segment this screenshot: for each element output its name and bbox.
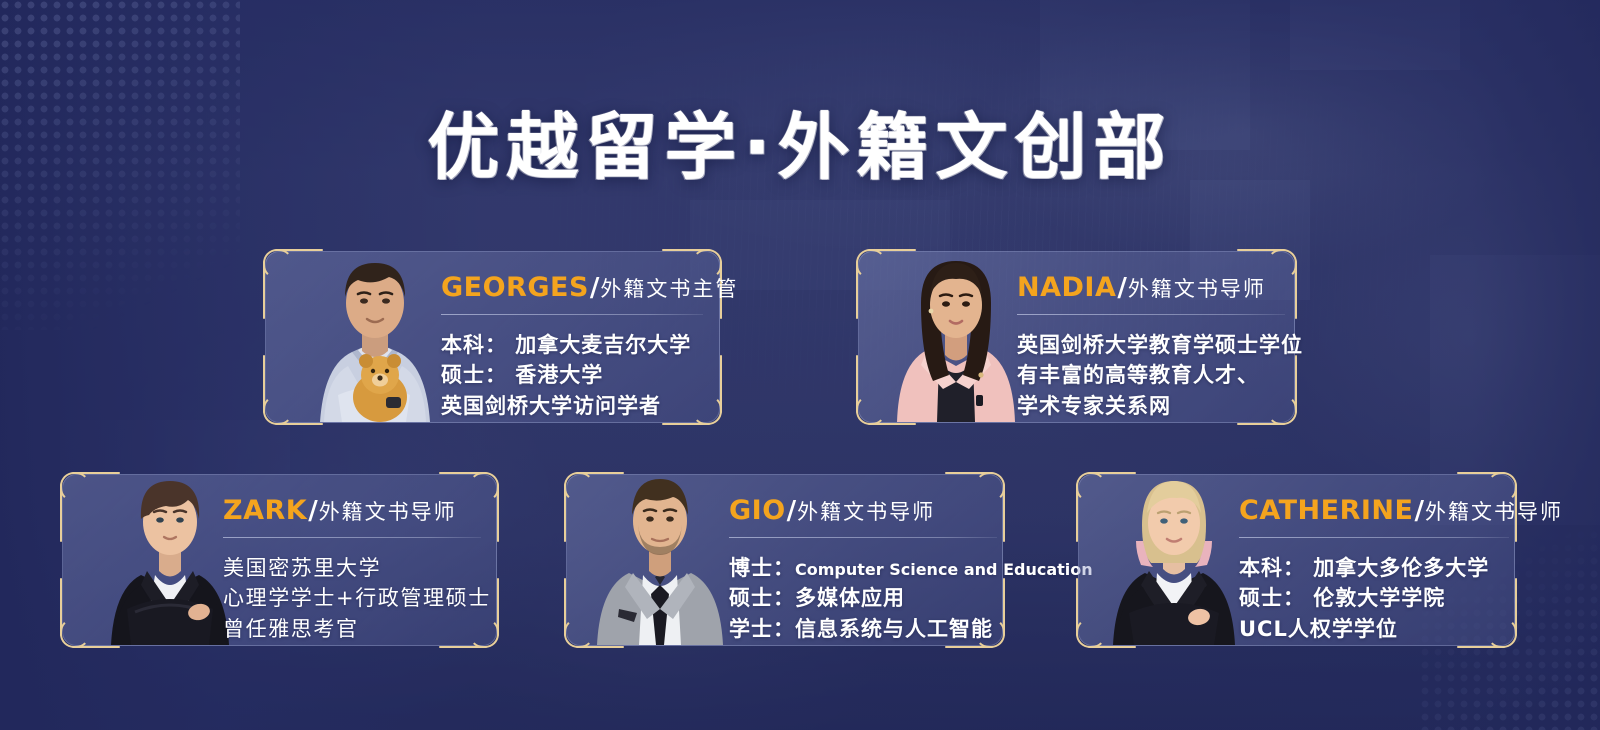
name-separator: / — [308, 496, 318, 526]
info-divider — [1239, 537, 1509, 538]
info-divider — [1017, 314, 1285, 315]
staff-detail-line: 学士：信息系统与人工智能 — [729, 614, 997, 644]
staff-name: GEORGES — [441, 272, 589, 303]
staff-name: CATHERINE — [1239, 495, 1413, 526]
staff-detail-line: 硕士： 伦敦大学学院 — [1239, 583, 1509, 613]
staff-name: NADIA — [1017, 272, 1116, 303]
staff-detail-line: 硕士： 香港大学 — [441, 360, 703, 390]
promo-banner: 优越留学·外籍文创部 — [0, 0, 1600, 730]
staff-card-zark[interactable]: ZARK/外籍文书导师 美国密苏里大学 心理学学士+行政管理硕士 曾任雅思考官 — [62, 474, 497, 646]
info-divider — [441, 314, 703, 315]
staff-card-georges[interactable]: GEORGES/外籍文书主管 本科： 加拿大麦吉尔大学 硕士： 香港大学 英国剑… — [265, 251, 720, 423]
staff-name: ZARK — [223, 495, 307, 526]
staff-info-catherine: CATHERINE/外籍文书导师 本科： 加拿大多伦多大学 硕士： 伦敦大学学院… — [1239, 497, 1509, 644]
staff-role: 外籍文书导师 — [319, 500, 457, 524]
staff-detail-line: 学术专家关系网 — [1017, 391, 1285, 421]
staff-detail-line: 本科： 加拿大麦吉尔大学 — [441, 330, 703, 360]
staff-role: 外籍文书主管 — [600, 277, 738, 301]
staff-role: 外籍文书导师 — [797, 500, 935, 524]
staff-card-catherine[interactable]: CATHERINE/外籍文书导师 本科： 加拿大多伦多大学 硕士： 伦敦大学学院… — [1078, 474, 1515, 646]
staff-name: GIO — [729, 495, 786, 526]
staff-info-georges: GEORGES/外籍文书主管 本科： 加拿大麦吉尔大学 硕士： 香港大学 英国剑… — [441, 274, 703, 421]
avatar-gio — [585, 467, 735, 645]
avatar-nadia — [881, 247, 1031, 422]
staff-card-nadia[interactable]: NADIA/外籍文书导师 英国剑桥大学教育学硕士学位 有丰富的高等教育人才、 学… — [858, 251, 1295, 423]
page-title: 优越留学·外籍文创部 — [427, 110, 1172, 186]
banner-title-wrapper: 优越留学·外籍文创部 — [0, 62, 1600, 234]
staff-role: 外籍文书导师 — [1128, 277, 1266, 301]
staff-name-line: GEORGES/外籍文书主管 — [441, 274, 703, 301]
staff-detail-line: 英国剑桥大学访问学者 — [441, 391, 703, 421]
staff-name-line: CATHERINE/外籍文书导师 — [1239, 497, 1509, 524]
staff-detail-line: 美国密苏里大学 — [223, 553, 481, 583]
staff-detail-line: 博士：Computer Science and Education — [729, 553, 997, 583]
staff-role: 外籍文书导师 — [1425, 500, 1563, 524]
staff-name-line: ZARK/外籍文书导师 — [223, 497, 481, 524]
staff-info-gio: GIO/外籍文书导师 博士：Computer Science and Educa… — [729, 497, 997, 644]
info-divider — [729, 537, 997, 538]
staff-detail-line: 有丰富的高等教育人才、 — [1017, 360, 1285, 390]
avatar-catherine — [1099, 467, 1249, 645]
staff-detail-line: 曾任雅思考官 — [223, 614, 481, 644]
staff-detail-line: 硕士：多媒体应用 — [729, 583, 997, 613]
staff-detail-line: 本科： 加拿大多伦多大学 — [1239, 553, 1509, 583]
name-separator: / — [1414, 496, 1424, 526]
staff-info-nadia: NADIA/外籍文书导师 英国剑桥大学教育学硕士学位 有丰富的高等教育人才、 学… — [1017, 274, 1285, 421]
staff-detail-line: 英国剑桥大学教育学硕士学位 — [1017, 330, 1285, 360]
staff-detail-line: 心理学学士+行政管理硕士 — [223, 583, 481, 613]
name-separator: / — [1117, 273, 1127, 303]
staff-name-line: GIO/外籍文书导师 — [729, 497, 997, 524]
staff-name-line: NADIA/外籍文书导师 — [1017, 274, 1285, 301]
staff-detail-line: UCL人权学学位 — [1239, 614, 1509, 644]
detail-cn: 博士： — [729, 556, 795, 580]
avatar-georges — [290, 247, 455, 422]
name-separator: / — [590, 273, 600, 303]
detail-en: Computer Science and Education — [795, 560, 1093, 579]
info-divider — [223, 537, 481, 538]
staff-card-gio[interactable]: GIO/外籍文书导师 博士：Computer Science and Educa… — [566, 474, 1003, 646]
staff-info-zark: ZARK/外籍文书导师 美国密苏里大学 心理学学士+行政管理硕士 曾任雅思考官 — [223, 497, 481, 644]
name-separator: / — [787, 496, 797, 526]
